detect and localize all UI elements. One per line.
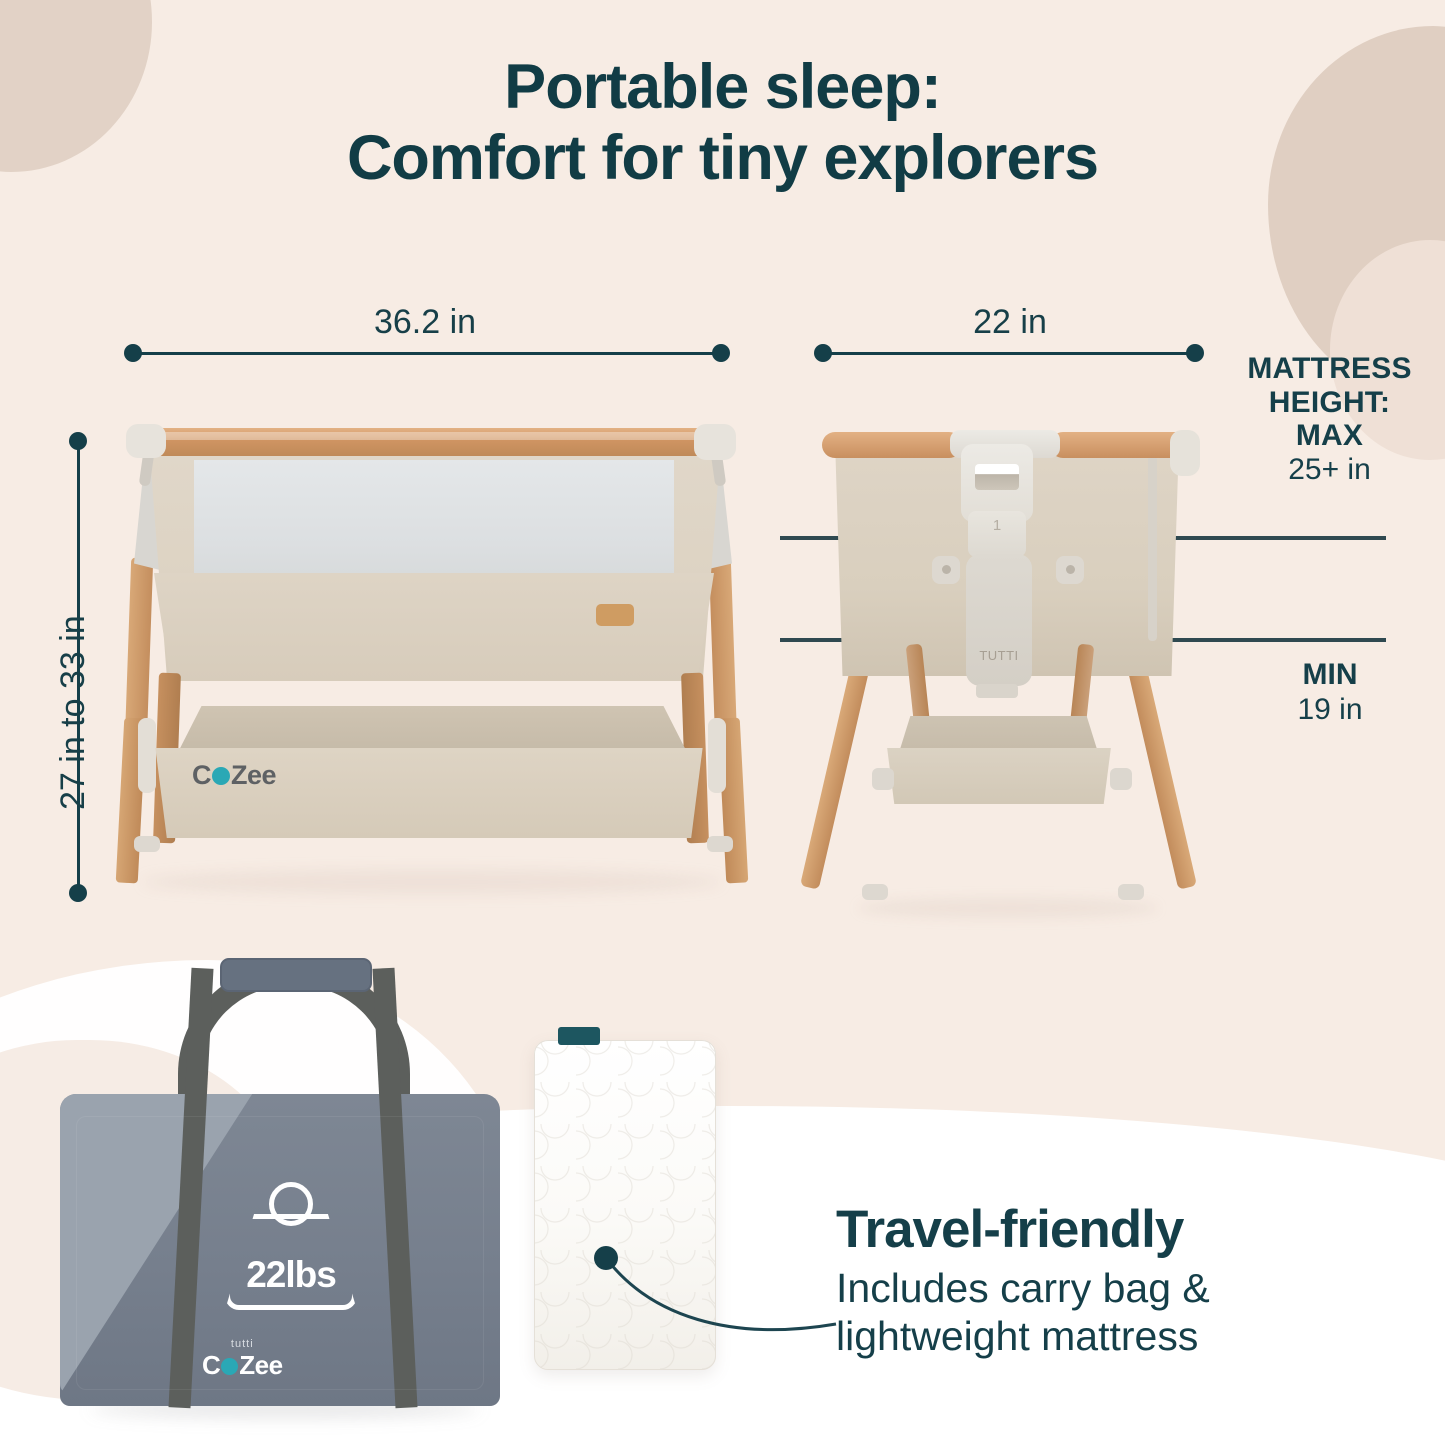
mattress-height-min-label: MIN bbox=[1230, 658, 1430, 693]
mattress-brand-tag bbox=[558, 1027, 600, 1045]
bassinet-front-fabric-lower bbox=[154, 573, 714, 681]
weight-value: 22lbs bbox=[225, 1254, 357, 1296]
infographic-canvas: Portable sleep: Comfort for tiny explore… bbox=[0, 0, 1445, 1446]
bassinet-side-wood-rail-right bbox=[1050, 432, 1190, 458]
callout-leader-line bbox=[560, 1220, 880, 1370]
depth-dimension-dot-left bbox=[814, 344, 832, 362]
depth-dimension-label: 22 in bbox=[820, 303, 1200, 342]
mattress-height-title-line-2: HEIGHT: bbox=[1222, 386, 1437, 420]
bassinet-side-shoe-right bbox=[1110, 768, 1132, 790]
mattress-height-title-line-1: MATTRESS bbox=[1222, 352, 1437, 386]
bassinet-front-rail-highlight bbox=[158, 432, 703, 440]
carry-bag-brand-small: tutti bbox=[202, 1338, 283, 1350]
mattress-height-min-callout: MIN 19 in bbox=[1230, 658, 1430, 728]
cozee-logo-zee: Zee bbox=[231, 760, 276, 790]
width-dimension-line bbox=[132, 352, 718, 355]
bassinet-side-screw-left bbox=[942, 565, 951, 574]
bassinet-front-cozee-logo: CZee bbox=[192, 760, 276, 791]
depth-dimension-line bbox=[822, 352, 1194, 355]
travel-friendly-line-1: Includes carry bag & bbox=[836, 1264, 1396, 1312]
mattress-height-max-callout: MATTRESS HEIGHT: MAX 25+ in bbox=[1222, 352, 1437, 486]
travel-friendly-line-2: lightweight mattress bbox=[836, 1312, 1396, 1360]
bassinet-side-mechanism-body bbox=[966, 554, 1032, 686]
mattress-height-max-label: MAX bbox=[1222, 419, 1437, 453]
bassinet-front-foot-left bbox=[134, 836, 160, 852]
bassinet-front-clip-right bbox=[708, 718, 726, 793]
bassinet-side-wood-rail-left bbox=[822, 432, 962, 458]
page-title: Portable sleep: Comfort for tiny explore… bbox=[0, 52, 1445, 193]
bassinet-side-shadow bbox=[858, 898, 1158, 918]
mattress-height-min-value: 19 in bbox=[1230, 693, 1430, 728]
bassinet-front-leg-left-rear bbox=[125, 558, 153, 744]
height-dimension-label: 27 in to 33 in bbox=[54, 615, 93, 810]
carry-bag-logo-c: C bbox=[202, 1350, 220, 1380]
bassinet-front-view: CZee bbox=[112, 418, 752, 918]
bassinet-front-shadow bbox=[142, 870, 722, 894]
width-dimension-label: 36.2 in bbox=[130, 303, 720, 342]
bassinet-front-leg-right-rear bbox=[709, 558, 737, 744]
carry-bag-logo-zee: Zee bbox=[239, 1350, 282, 1380]
cozee-logo-c: C bbox=[192, 760, 211, 790]
carry-bag: 22lbs tutti CZee bbox=[60, 1056, 500, 1406]
bassinet-side-storage-basket bbox=[880, 748, 1118, 804]
mattress-height-max-value: 25+ in bbox=[1222, 453, 1437, 487]
bassinet-side-foot-left bbox=[862, 884, 888, 900]
bassinet-front-foot-right bbox=[707, 836, 733, 852]
callout-leader-dot bbox=[594, 1246, 618, 1270]
bassinet-side-step-number: 1 bbox=[968, 517, 1026, 534]
bassinet-side-rail-cap-right bbox=[1170, 430, 1200, 476]
height-dimension-dot-bottom bbox=[69, 884, 87, 902]
bassinet-side-zipper bbox=[1148, 456, 1157, 641]
bassinet-side-latch bbox=[976, 684, 1018, 698]
bassinet-side-screw-right bbox=[1066, 565, 1075, 574]
height-dimension-dot-top bbox=[69, 432, 87, 450]
carry-bag-grip bbox=[220, 958, 372, 992]
bassinet-side-view: 1 TUTTI bbox=[818, 416, 1218, 921]
bassinet-front-mesh-panel bbox=[194, 460, 674, 580]
width-dimension-dot-right bbox=[712, 344, 730, 362]
carry-bag-cozee-logo: CZee bbox=[202, 1350, 283, 1381]
bassinet-front-leather-tag bbox=[596, 604, 634, 626]
weight-icon: 22lbs bbox=[225, 1182, 357, 1310]
carry-bag-logo: tutti CZee bbox=[202, 1338, 283, 1381]
carry-bag-logo-o-dot bbox=[221, 1358, 238, 1375]
bassinet-side-handle-slot bbox=[975, 464, 1019, 490]
cozee-logo-o-dot bbox=[212, 767, 230, 785]
width-dimension-dot-left bbox=[124, 344, 142, 362]
bassinet-front-rail-cap-left bbox=[126, 424, 166, 458]
bassinet-front-clip-left bbox=[138, 718, 156, 793]
bassinet-side-shoe-left bbox=[872, 768, 894, 790]
travel-friendly-callout: Travel-friendly Includes carry bag & lig… bbox=[836, 1203, 1396, 1361]
travel-friendly-title: Travel-friendly bbox=[836, 1203, 1396, 1256]
headline-line-2: Comfort for tiny explorers bbox=[0, 123, 1445, 194]
headline-line-1: Portable sleep: bbox=[504, 52, 941, 122]
bassinet-side-foot-right bbox=[1118, 884, 1144, 900]
depth-dimension-dot-right bbox=[1186, 344, 1204, 362]
bassinet-front-rail-cap-right bbox=[694, 424, 736, 460]
bassinet-side-tutti-logo: TUTTI bbox=[966, 648, 1032, 663]
